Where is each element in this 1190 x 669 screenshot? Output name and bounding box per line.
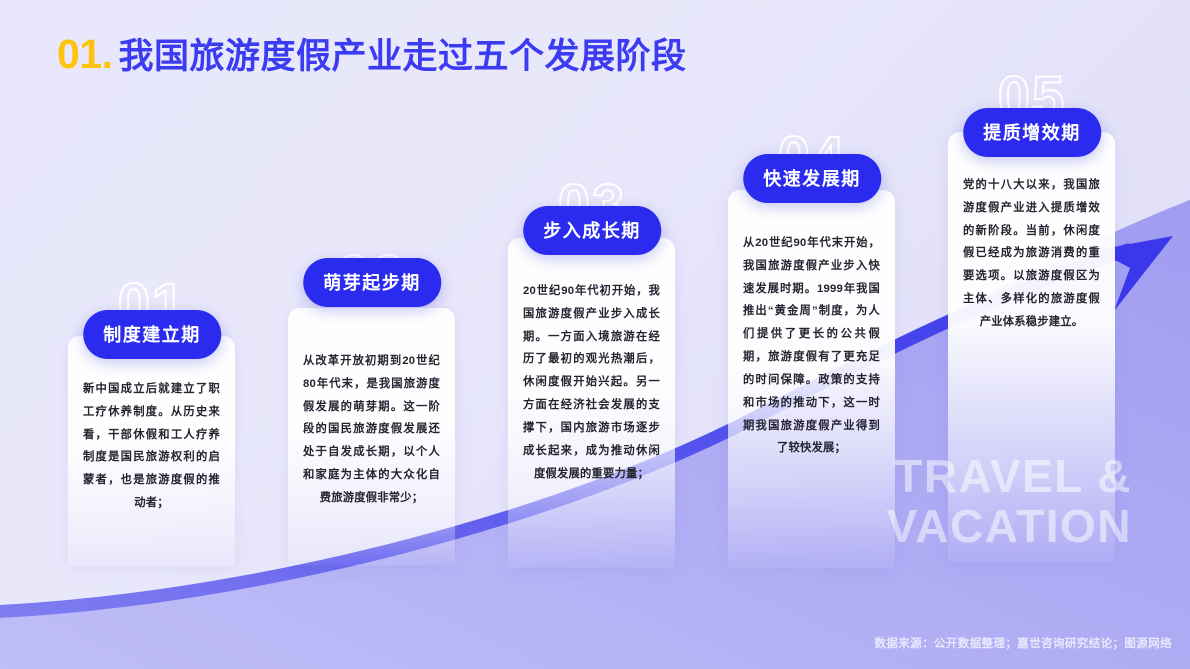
stage-card-2[interactable]: 从改革开放初期到20世纪80年代末，是我国旅游度假发展的萌芽期。这一阶段的国民旅…: [288, 308, 455, 566]
title-index: 01.: [57, 31, 113, 78]
stage-card-3[interactable]: 20世纪90年代初开始，我国旅游度假产业步入成长期。一方面入境旅游在经历了最初的…: [508, 238, 675, 568]
data-source-note: 数据来源：公开数据整理；嘉世咨询研究结论；图源网络: [875, 635, 1173, 651]
stage-card-1[interactable]: 新中国成立后就建立了职工疗休养制度。从历史来看，干部休假和工人疗养制度是国民旅游…: [68, 336, 235, 566]
stage-body-4: 从20世纪90年代末开始，我国旅游度假产业步入快速发展时期。1999年我国推出“…: [728, 190, 895, 460]
stage-badge-1[interactable]: 制度建立期: [83, 310, 221, 359]
page-title: 01. 我国旅游度假产业走过五个发展阶段: [57, 28, 687, 79]
stage-badge-2[interactable]: 萌芽起步期: [303, 258, 441, 307]
stage-card-5[interactable]: 党的十八大以来，我国旅游度假产业进入提质增效的新阶段。当前，休闲度假已经成为旅游…: [948, 132, 1115, 562]
stage-badge-5[interactable]: 提质增效期: [963, 108, 1101, 157]
stage-body-3: 20世纪90年代初开始，我国旅游度假产业步入成长期。一方面入境旅游在经历了最初的…: [508, 238, 675, 485]
title-text: 我国旅游度假产业走过五个发展阶段: [119, 28, 687, 79]
slide-canvas: TRAVEL & VACATION 01. 我国旅游度假产业走过五个发展阶段 新…: [0, 0, 1190, 669]
stage-body-2: 从改革开放初期到20世纪80年代末，是我国旅游度假发展的萌芽期。这一阶段的国民旅…: [288, 308, 455, 510]
stage-badge-3[interactable]: 步入成长期: [523, 206, 661, 255]
stage-card-4[interactable]: 从20世纪90年代末开始，我国旅游度假产业步入快速发展时期。1999年我国推出“…: [728, 190, 895, 568]
stage-body-1: 新中国成立后就建立了职工疗休养制度。从历史来看，干部休假和工人疗养制度是国民旅游…: [68, 336, 235, 515]
stage-badge-4[interactable]: 快速发展期: [743, 154, 881, 203]
stage-body-5: 党的十八大以来，我国旅游度假产业进入提质增效的新阶段。当前，休闲度假已经成为旅游…: [948, 132, 1115, 334]
